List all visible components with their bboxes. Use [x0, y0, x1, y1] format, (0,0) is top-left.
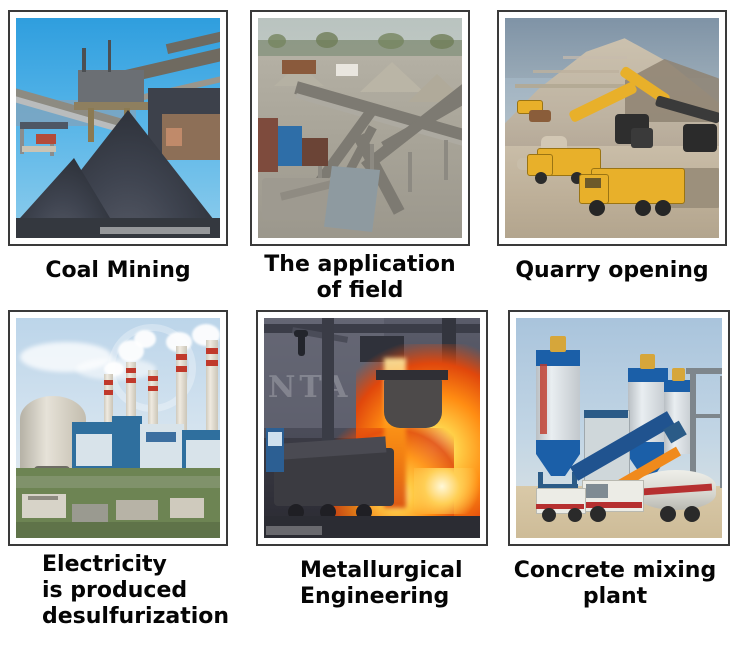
bench-line: [533, 70, 619, 73]
wheel: [589, 200, 605, 216]
crusher-body: [302, 138, 328, 166]
photo-card-quarry-opening: [497, 10, 727, 246]
silo-text-stripe: [540, 364, 547, 434]
foreground-greenery: [16, 522, 220, 538]
gantry-column: [720, 376, 722, 488]
tree: [268, 34, 286, 48]
town-building: [170, 498, 204, 518]
worker-silhouette: [298, 334, 305, 356]
excavator-body-right: [683, 124, 717, 152]
ladle: [384, 376, 442, 428]
mast: [108, 40, 111, 72]
panel-screen: [268, 432, 282, 446]
caption-electricity-desulfurization: Electricity is produced desulfurization: [42, 552, 242, 630]
gantry-brace: [692, 414, 722, 418]
dump-truck: [282, 60, 316, 74]
chimney-band: [148, 386, 158, 391]
wheel: [568, 508, 582, 522]
crusher-body: [258, 118, 278, 172]
chimney-band: [126, 368, 136, 373]
photo-coal-mining: [16, 18, 220, 238]
caption-quarry-opening: Quarry opening: [497, 258, 727, 284]
excavator-bucket: [631, 128, 653, 148]
silo-bottom-band: [536, 440, 580, 454]
steam-plume: [134, 330, 156, 348]
bench-line: [515, 84, 625, 88]
caption-concrete-mixing-plant: Concrete mixing plant: [500, 558, 730, 610]
cab-stripe: [582, 502, 642, 508]
silo-filter-cap: [672, 368, 685, 381]
bench-line: [563, 56, 627, 59]
mast: [82, 48, 86, 72]
caption-coal-mining: Coal Mining: [8, 258, 228, 284]
wheel: [590, 506, 606, 522]
sparks-glow: [414, 468, 480, 514]
ladle-rim: [376, 370, 448, 380]
image-watermark-bar: [100, 227, 210, 234]
machine-house: [78, 70, 144, 104]
photo-frame: [8, 10, 228, 246]
photo-frame: NTA: [256, 310, 488, 546]
building-roof: [28, 496, 58, 500]
application-photo-grid: Coal Mining: [0, 0, 749, 655]
plant-building-light: [186, 440, 220, 470]
wheel: [684, 506, 700, 522]
tree-band: [16, 476, 220, 488]
photo-metallurgy: NTA: [264, 318, 480, 538]
worker-head: [294, 330, 308, 337]
chimney-band: [126, 378, 136, 383]
caption-metallurgical-engineering: Metallurgical Engineering: [300, 558, 510, 610]
photo-power-plant: [16, 318, 220, 538]
silo-filter-cap: [550, 336, 566, 352]
photo-frame: [497, 10, 727, 246]
photo-card-concrete-mixing-plant: [508, 310, 730, 546]
chimney-band: [104, 380, 113, 385]
wheel: [635, 200, 651, 216]
cab-window: [585, 178, 601, 188]
house-roof: [584, 410, 628, 418]
truck-small: [529, 110, 551, 122]
white-vehicle: [336, 64, 358, 76]
tree: [430, 34, 454, 49]
site-structure: [166, 128, 182, 146]
support-leg: [444, 140, 448, 180]
photo-concrete-plant: [516, 318, 722, 538]
wheel: [660, 506, 676, 522]
photo-card-metallurgical-engineering: NTA: [256, 310, 488, 546]
gantry-beam: [686, 368, 722, 374]
photo-frame: [250, 10, 470, 246]
chimney-band: [148, 376, 158, 381]
chute: [324, 166, 380, 232]
photo-application-of-field: [258, 18, 462, 238]
wheel: [535, 172, 547, 184]
chimney-band: [176, 354, 187, 360]
wheel: [655, 200, 671, 216]
photo-card-coal-mining: [8, 10, 228, 246]
chimney-band: [176, 366, 187, 372]
photo-quarry-opening: [505, 18, 719, 238]
tree: [378, 33, 404, 49]
photo-card-application-of-field: [250, 10, 470, 246]
town-building: [116, 500, 158, 520]
support-column: [88, 108, 94, 142]
photo-frame: [508, 310, 730, 546]
image-watermark-bar: [266, 526, 322, 535]
wheel: [542, 508, 556, 522]
support-leg: [408, 152, 412, 192]
silo-filter-cap: [640, 354, 655, 369]
cab-window: [586, 484, 608, 498]
tree: [316, 32, 338, 48]
town-building: [72, 504, 108, 522]
caption-application-of-field: The application of field: [250, 252, 470, 304]
building-signboard: [146, 432, 176, 442]
site-structure: [20, 122, 68, 129]
photo-frame: [8, 310, 228, 546]
silo-top-band: [628, 368, 668, 382]
chimney-band: [104, 390, 113, 395]
image-watermark: NTA: [268, 370, 351, 405]
rail-line: [22, 146, 56, 152]
chimney-band: [206, 360, 218, 366]
chimney-band: [206, 348, 218, 354]
photo-card-electricity-desulfurization: [8, 310, 228, 546]
plant-building: [112, 416, 142, 472]
red-equipment: [36, 134, 56, 144]
